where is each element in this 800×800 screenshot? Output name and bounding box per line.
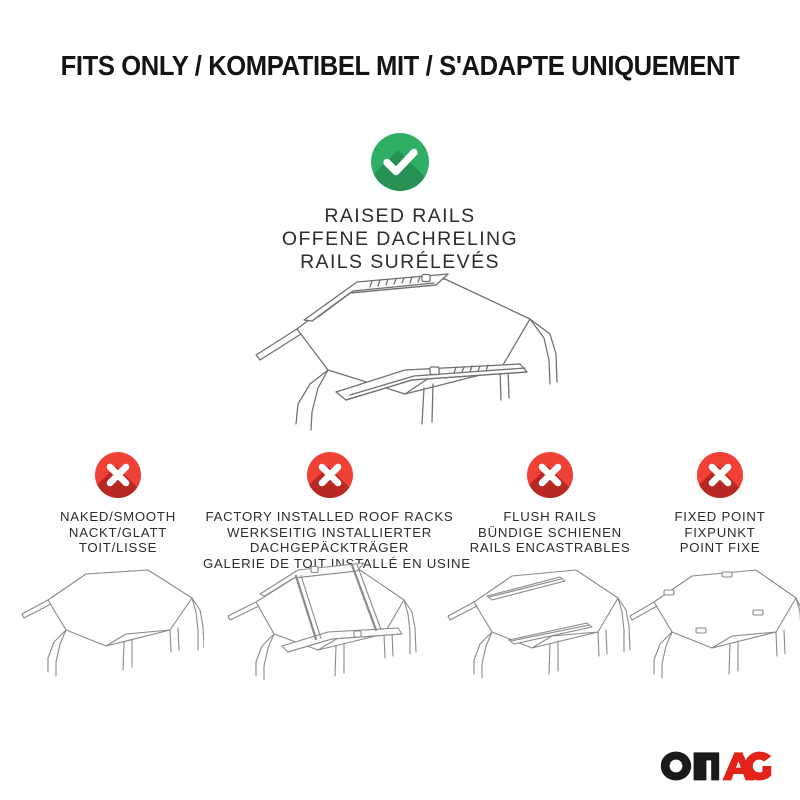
- cross-badge: [95, 452, 141, 498]
- cross-badge: [697, 452, 743, 498]
- cross-icon: [95, 452, 141, 498]
- compatible-labels: RAISED RAILS OFFENE DACHRELING RAILS SUR…: [0, 205, 800, 274]
- raised-rails-illustration: [200, 272, 600, 452]
- fixed-point-illustration: [618, 552, 800, 694]
- fitment-infographic: FITS ONLY / KOMPATIBEL MIT / S'ADAPTE UN…: [0, 0, 800, 800]
- incompatible-label-de-1: WERKSEITIG INSTALLIERTER: [203, 525, 456, 541]
- check-icon: [371, 133, 429, 191]
- incompatible-label-en: NAKED/SMOOTH: [18, 509, 218, 525]
- incompatible-label-en: FLUSH RAILS: [455, 509, 645, 525]
- page-title: FITS ONLY / KOMPATIBEL MIT / S'ADAPTE UN…: [28, 50, 772, 82]
- cross-icon: [307, 452, 353, 498]
- compatible-label-en: RAISED RAILS: [0, 205, 800, 228]
- incompatible-label-en: FIXED POINT: [640, 509, 800, 525]
- compatible-label-de: OFFENE DACHRELING: [0, 228, 800, 251]
- incompatible-label-de: NACKT/GLATT: [18, 525, 218, 541]
- flush-rails-illustration: [432, 552, 632, 694]
- incompatible-item-fixed-point: FIXED POINT FIXPUNKT POINT FIXE: [640, 452, 800, 556]
- incompatible-label-de: BÜNDIGE SCHIENEN: [455, 525, 645, 541]
- incompatible-labels: FIXED POINT FIXPUNKT POINT FIXE: [640, 509, 800, 556]
- compatible-section: RAISED RAILS OFFENE DACHRELING RAILS SUR…: [0, 133, 800, 274]
- incompatible-item-flush-rails: FLUSH RAILS BÜNDIGE SCHIENEN RAILS ENCAS…: [455, 452, 645, 556]
- omac-logo-mark: [660, 750, 772, 782]
- incompatible-label-de: FIXPUNKT: [640, 525, 800, 541]
- cross-badge: [527, 452, 573, 498]
- compatible-label-fr: RAILS SURÉLEVÉS: [0, 251, 800, 274]
- naked-smooth-illustration: [8, 552, 204, 692]
- check-badge: [371, 133, 429, 191]
- incompatible-item-naked-smooth: NAKED/SMOOTH NACKT/GLATT TOIT/LISSE: [18, 452, 218, 556]
- factory-roof-racks-illustration: [208, 552, 436, 697]
- cross-badge: [307, 452, 353, 498]
- cross-icon: [697, 452, 743, 498]
- omac-logo: [660, 750, 772, 782]
- incompatible-labels: NAKED/SMOOTH NACKT/GLATT TOIT/LISSE: [18, 509, 218, 556]
- incompatible-label-en: FACTORY INSTALLED ROOF RACKS: [203, 509, 456, 525]
- incompatible-labels: FLUSH RAILS BÜNDIGE SCHIENEN RAILS ENCAS…: [455, 509, 645, 556]
- cross-icon: [527, 452, 573, 498]
